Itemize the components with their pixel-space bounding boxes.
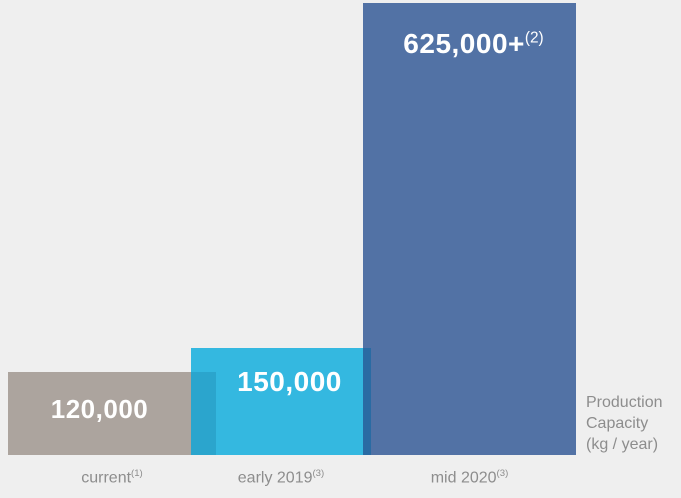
y-axis-caption: Production Capacity (kg / year) bbox=[586, 392, 681, 455]
bar-value-early-2019-text: 150,000 bbox=[237, 366, 342, 397]
y-axis-caption-line-2: Capacity bbox=[586, 413, 681, 434]
category-label-current: current(1) bbox=[8, 468, 216, 487]
category-label-current-footnote: (1) bbox=[131, 468, 143, 479]
y-axis-caption-line-3: (kg / year) bbox=[586, 434, 681, 455]
bar-early-2019[interactable] bbox=[191, 348, 371, 455]
bar-value-mid-2020-footnote: (2) bbox=[525, 30, 544, 47]
bar-value-mid-2020: 625,000+(2) bbox=[371, 28, 576, 60]
category-label-mid-2020-text: mid 2020 bbox=[431, 469, 497, 486]
bar-mid-2020[interactable] bbox=[363, 3, 576, 455]
bar-value-early-2019: 150,000 bbox=[216, 366, 363, 398]
category-label-mid-2020-footnote: (3) bbox=[497, 468, 509, 479]
plot-area: 120,000 150,000 625,000+(2) current(1) e… bbox=[0, 0, 681, 498]
category-label-early-2019-text: early 2019 bbox=[238, 469, 313, 486]
category-label-early-2019: early 2019(3) bbox=[191, 468, 371, 487]
category-label-current-text: current bbox=[81, 469, 131, 486]
category-label-mid-2020: mid 2020(3) bbox=[363, 468, 576, 487]
y-axis-caption-line-1: Production bbox=[586, 392, 681, 413]
bar-value-current-text: 120,000 bbox=[51, 394, 148, 424]
category-label-early-2019-footnote: (3) bbox=[312, 468, 324, 479]
bar-value-mid-2020-text: 625,000+ bbox=[403, 28, 525, 59]
production-capacity-bar-chart: 120,000 150,000 625,000+(2) current(1) e… bbox=[0, 0, 681, 498]
bar-value-current: 120,000 bbox=[8, 394, 191, 425]
